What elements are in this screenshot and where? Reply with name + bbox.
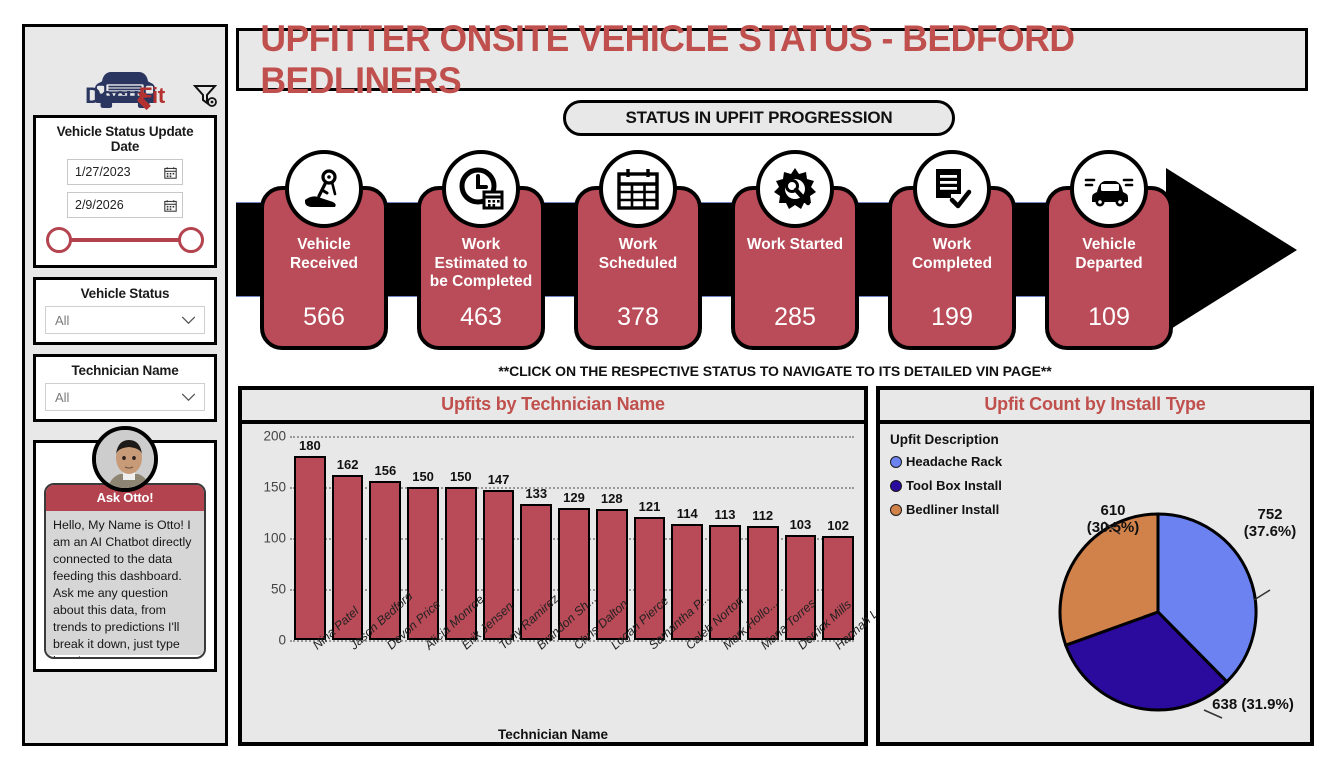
end-date-value: 2/9/2026 [75, 198, 124, 212]
page-title: UPFITTER ONSITE VEHICLE STATUS - BEDFORD… [260, 18, 1283, 102]
bar[interactable] [294, 456, 326, 640]
pie-data-label: 610 (30.5%) [1068, 502, 1158, 537]
y-tick-label: 0 [248, 633, 286, 648]
pie-data-label: 752 (37.6%) [1230, 506, 1310, 541]
date-slicer-title: Vehicle Status Update Date [42, 122, 208, 159]
calendar-icon[interactable] [164, 199, 177, 212]
legend-item[interactable]: Bedliner Install [890, 502, 999, 517]
y-tick-label: 100 [248, 531, 286, 546]
page-header: UPFITTER ONSITE VEHICLE STATUS - BEDFORD… [236, 28, 1308, 91]
avatar-zone [25, 422, 225, 440]
technician-name-dropdown[interactable]: All [45, 383, 205, 411]
bar-value-label: 180 [285, 438, 335, 453]
stage-work-estimated[interactable]: Work Estimated to be Completed 463 [417, 186, 545, 350]
stage-vehicle-received[interactable]: Vehicle Received 566 [260, 186, 388, 350]
arrow-head [1166, 168, 1297, 332]
x-axis-title: Technician Name [242, 727, 864, 742]
legend-item[interactable]: Headache Rack [890, 454, 1002, 469]
leader-line [1254, 590, 1270, 600]
x-axis-labels: Nina PatelJason BedfordDevon PriceAlicia… [294, 640, 854, 714]
bar-chart-panel: Upfits by Technician Name 050100150200 1… [238, 386, 868, 746]
chevron-down-icon[interactable] [181, 316, 196, 325]
calendar-icon [599, 150, 677, 228]
bar-value-label: 147 [474, 472, 524, 487]
legend-label: Headache Rack [906, 454, 1002, 469]
avatar [92, 426, 158, 492]
stage-count: 109 [1049, 303, 1169, 332]
stage-label: Work Scheduled [578, 236, 698, 273]
stage-label: Vehicle Received [264, 236, 384, 273]
stage-label: Work Completed [892, 236, 1012, 273]
dashboard-root: DocuFit Vehicle Status Update Date 1/27/… [0, 0, 1324, 768]
chat-inner: Ask Otto! Hello, My Name is Otto! I am a… [44, 483, 206, 659]
stage-count: 285 [735, 303, 855, 332]
y-tick-label: 200 [248, 429, 286, 444]
date-slicer: Vehicle Status Update Date 1/27/2023 2/9… [33, 115, 217, 268]
pie-chart-panel: Upfit Count by Install Type Upfit Descri… [876, 386, 1314, 746]
progression-label: STATUS IN UPFIT PROGRESSION [563, 100, 955, 136]
logo-docu: Docu [85, 83, 139, 108]
chat-input-area[interactable]: Hello, My Name is Otto! I am an AI Chatb… [46, 511, 204, 655]
vehicle-departing-icon [1070, 150, 1148, 228]
bar-value-label: 102 [813, 518, 863, 533]
technician-name-value: All [55, 390, 69, 405]
start-date-value: 1/27/2023 [75, 165, 131, 179]
legend-swatch [890, 480, 902, 492]
pie-chart-title: Upfit Count by Install Type [880, 390, 1310, 424]
logo-fit: Fit [139, 83, 165, 108]
clock-calendar-icon [442, 150, 520, 228]
slider-handle-start[interactable] [46, 227, 72, 253]
filter-icon[interactable] [193, 83, 217, 107]
start-date-input[interactable]: 1/27/2023 [67, 159, 183, 185]
stage-count: 566 [264, 303, 384, 332]
legend-label: Bedliner Install [906, 502, 999, 517]
stage-label: Work Started [735, 236, 855, 255]
pie-data-label: 638 (31.9%) [1198, 696, 1308, 713]
app-logo: DocuFit [25, 27, 225, 111]
technician-name-title: Technician Name [42, 361, 208, 383]
stage-work-started[interactable]: Work Started 285 [731, 186, 859, 350]
y-tick-label: 150 [248, 480, 286, 495]
calendar-icon[interactable] [164, 166, 177, 179]
click-instruction: **CLICK ON THE RESPECTIVE STATUS TO NAVI… [236, 363, 1314, 379]
stage-count: 463 [421, 303, 541, 332]
chevron-down-icon[interactable] [181, 393, 196, 402]
bar-column[interactable]: 180 [294, 436, 326, 640]
legend-title: Upfit Description [890, 432, 999, 447]
vehicle-status-title: Vehicle Status [42, 284, 208, 306]
legend-item[interactable]: Tool Box Install [890, 478, 1002, 493]
bar-chart-title: Upfits by Technician Name [242, 390, 864, 424]
slider-track [58, 238, 192, 242]
stage-count: 199 [892, 303, 1012, 332]
stage-vehicle-departed[interactable]: Vehicle Departed 109 [1045, 186, 1173, 350]
vehicle-status-value: All [55, 313, 69, 328]
end-date-input[interactable]: 2/9/2026 [67, 192, 183, 218]
vehicle-status-slicer: Vehicle Status All [33, 277, 217, 345]
slider-handle-end[interactable] [178, 227, 204, 253]
key-handover-icon [285, 150, 363, 228]
stage-count: 378 [578, 303, 698, 332]
date-range-slider[interactable] [46, 225, 204, 255]
gear-wrench-icon [756, 150, 834, 228]
document-check-icon [913, 150, 991, 228]
bar-chart-plot[interactable]: 050100150200 180162156150150147133129128… [242, 424, 864, 750]
y-tick-label: 50 [248, 582, 286, 597]
legend-label: Tool Box Install [906, 478, 1002, 493]
stage-work-completed[interactable]: Work Completed 199 [888, 186, 1016, 350]
legend-swatch [890, 456, 902, 468]
technician-name-slicer: Technician Name All [33, 354, 217, 422]
vehicle-status-dropdown[interactable]: All [45, 306, 205, 334]
pie-chart-plot[interactable]: Upfit Description Headache RackTool Box … [880, 424, 1310, 750]
stage-work-scheduled[interactable]: Work Scheduled 378 [574, 186, 702, 350]
legend-swatch [890, 504, 902, 516]
sidebar: DocuFit Vehicle Status Update Date 1/27/… [22, 24, 228, 746]
status-progression: Vehicle Received 566 Work Estimated to b… [236, 140, 1314, 360]
stage-label: Vehicle Departed [1049, 236, 1169, 273]
stage-label: Work Estimated to be Completed [421, 236, 541, 292]
